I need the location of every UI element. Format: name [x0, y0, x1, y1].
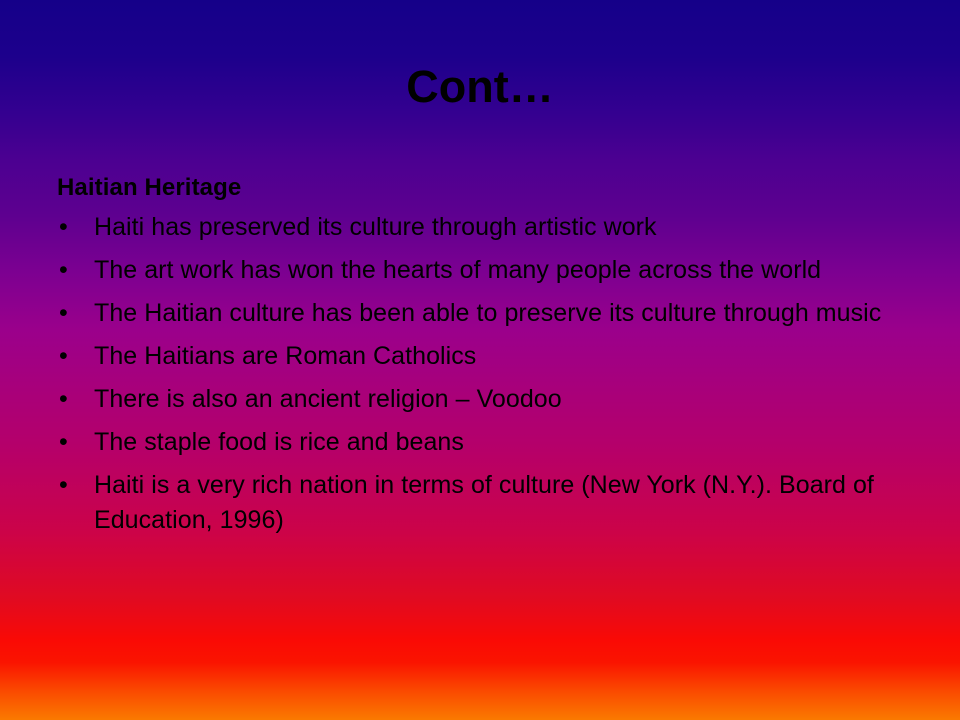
list-item: • The Haitians are Roman Catholics	[57, 339, 903, 374]
bullet-point-icon: •	[59, 296, 68, 331]
list-item: • The art work has won the hearts of man…	[57, 253, 903, 288]
slide-body: Haitian Heritage • Haiti has preserved i…	[57, 173, 903, 546]
slide-title: Cont…	[0, 63, 960, 112]
bullet-point-icon: •	[59, 339, 68, 374]
list-item: • The Haitian culture has been able to p…	[57, 296, 903, 331]
list-item: • There is also an ancient religion – Vo…	[57, 382, 903, 417]
list-item: • The staple food is rice and beans	[57, 425, 903, 460]
list-item-text: The art work has won the hearts of many …	[94, 253, 903, 288]
presentation-slide: Cont… Haitian Heritage • Haiti has prese…	[0, 0, 960, 720]
list-item-text: Haiti has preserved its culture through …	[94, 210, 903, 245]
bullet-point-icon: •	[59, 382, 68, 417]
section-subheading: Haitian Heritage	[57, 173, 903, 202]
list-item-text: There is also an ancient religion – Vood…	[94, 382, 903, 417]
list-item: • Haiti is a very rich nation in terms o…	[57, 468, 903, 538]
bullet-point-icon: •	[59, 425, 68, 460]
bullet-point-icon: •	[59, 468, 68, 503]
bullet-list: • Haiti has preserved its culture throug…	[57, 210, 903, 538]
list-item-text: The Haitian culture has been able to pre…	[94, 296, 903, 331]
list-item-text: The staple food is rice and beans	[94, 425, 903, 460]
list-item-text: The Haitians are Roman Catholics	[94, 339, 903, 374]
bullet-point-icon: •	[59, 253, 68, 288]
list-item: • Haiti has preserved its culture throug…	[57, 210, 903, 245]
list-item-text: Haiti is a very rich nation in terms of …	[94, 468, 903, 538]
bullet-point-icon: •	[59, 210, 68, 245]
